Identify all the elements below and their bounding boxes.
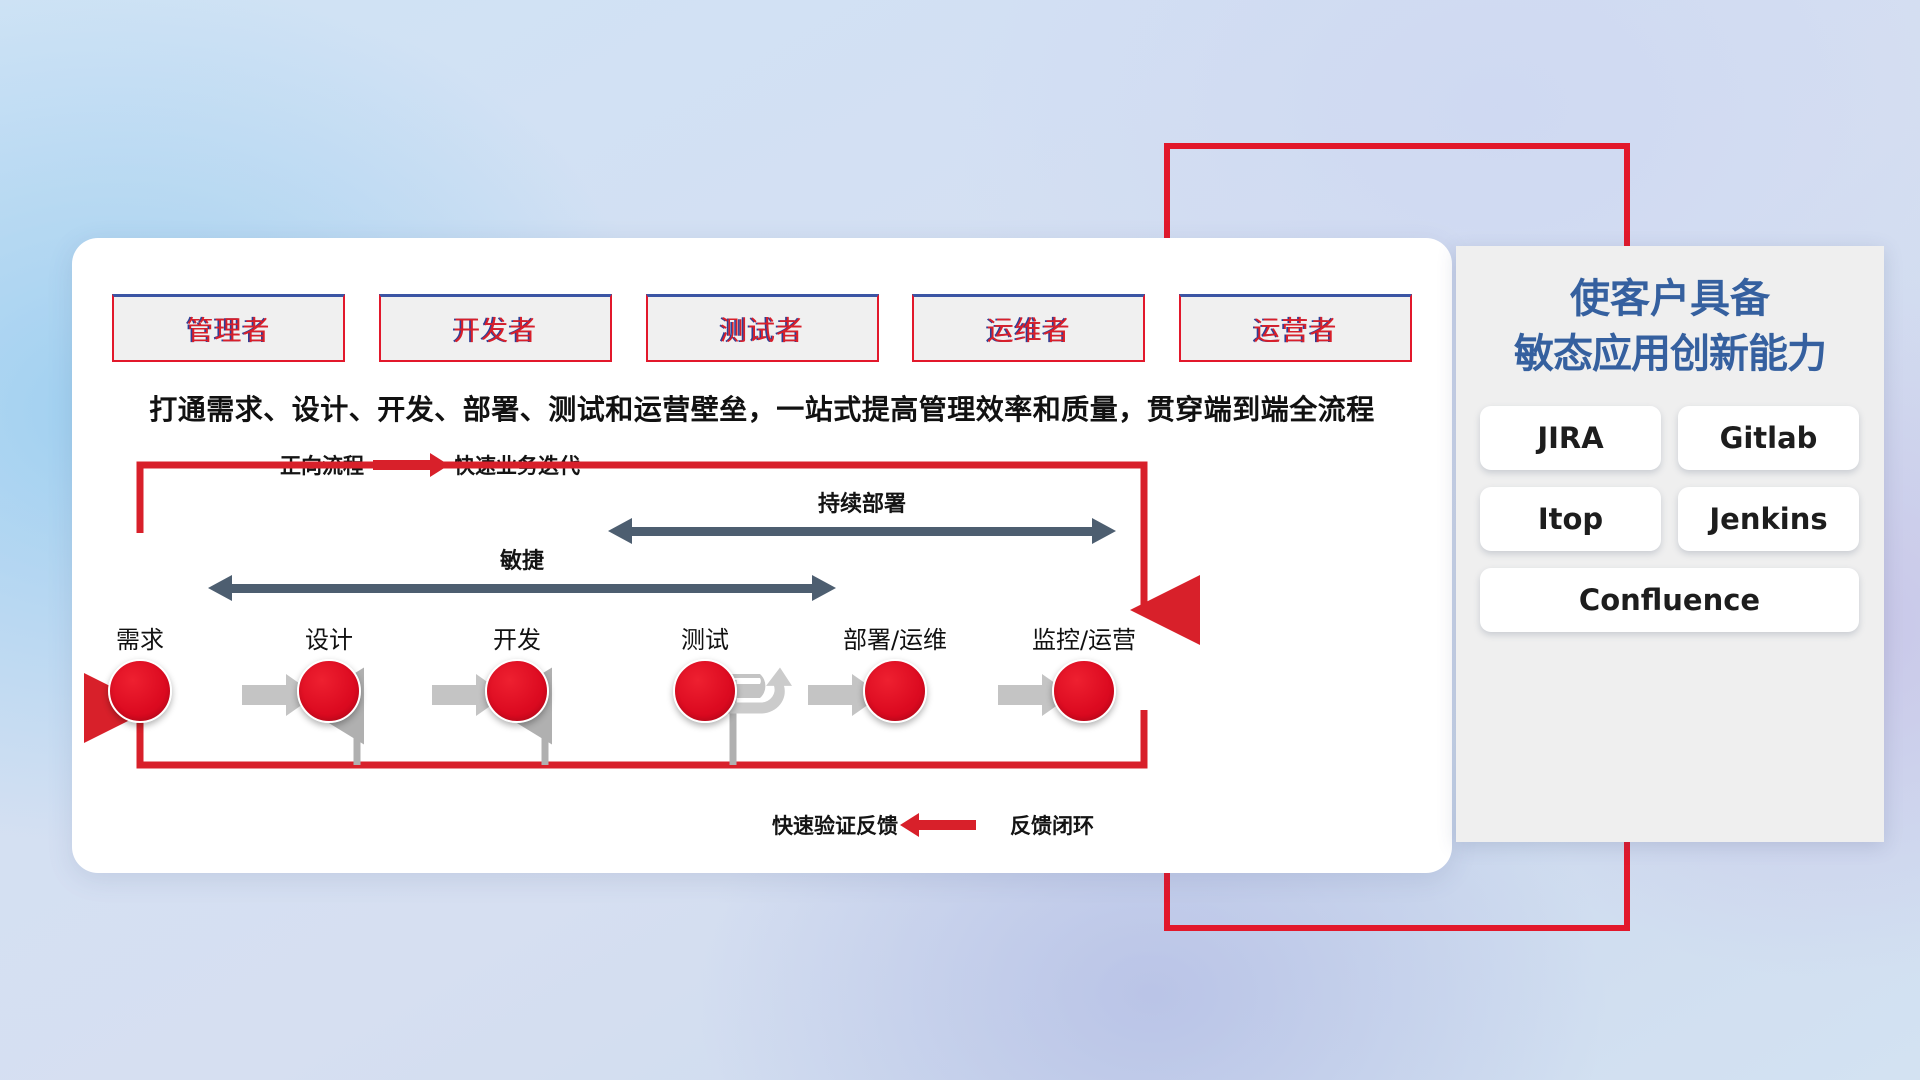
stage-label: 设计 <box>269 620 389 655</box>
stage-node-circle <box>1052 659 1116 723</box>
arrow-head-right <box>1092 518 1116 544</box>
role-chip-operations[interactable]: 运营者 <box>1179 294 1412 362</box>
pipeline-stage-development[interactable]: 开发 <box>457 620 577 723</box>
stage-label: 测试 <box>645 620 765 655</box>
arrow-shaft <box>230 584 814 593</box>
arrow-shaft <box>630 527 1094 536</box>
role-label: 管理者 <box>187 309 271 348</box>
legend-feedback-right-label: 反馈闭环 <box>1010 810 1094 840</box>
pipeline-stage-testing[interactable]: 测试 <box>645 620 765 723</box>
double-arrow-icon <box>608 524 1116 538</box>
role-chip-tester[interactable]: 测试者 <box>646 294 879 362</box>
tool-chip-itop[interactable]: Itop <box>1480 487 1661 551</box>
stage-node-circle <box>863 659 927 723</box>
stage-label: 需求 <box>80 620 200 655</box>
main-content-card: 管理者 开发者 测试者 运维者 运营者 打通需求、设计、开发、部署、测试和运营壁… <box>72 238 1452 873</box>
arrow-head-left <box>608 518 632 544</box>
stage-node-circle <box>297 659 361 723</box>
band-agile: 敏捷 <box>208 543 836 595</box>
tool-chip-confluence[interactable]: Confluence <box>1480 568 1859 632</box>
pipeline-stage-deploy-ops[interactable]: 部署/运维 <box>835 620 955 723</box>
panel-title-line-1: 使客户具备 <box>1480 272 1860 327</box>
role-label: 运维者 <box>987 309 1071 348</box>
arrow-right-red-icon <box>373 460 431 470</box>
panel-title-line-2: 敏态应用创新能力 <box>1480 327 1860 382</box>
role-label: 测试者 <box>720 309 804 348</box>
band-continuous-deployment: 持续部署 <box>608 486 1116 538</box>
band-label: 持续部署 <box>608 486 1116 518</box>
stage-label: 监控/运营 <box>1024 620 1144 655</box>
pipeline-stage-requirements[interactable]: 需求 <box>80 620 200 723</box>
stage-label: 部署/运维 <box>835 620 955 655</box>
value-proposition-panel: 使客户具备 敏态应用创新能力 JIRA Gitlab Itop Jenkins … <box>1456 246 1884 842</box>
legend-forward-right-label: 快速业务迭代 <box>454 450 580 480</box>
stage-node-circle <box>673 659 737 723</box>
stage-node-circle <box>108 659 172 723</box>
tool-chip-jira[interactable]: JIRA <box>1480 406 1661 470</box>
arrow-left-red-icon <box>918 820 976 830</box>
pipeline-row: 需求 设计 开发 <box>112 620 1412 770</box>
role-label: 开发者 <box>453 309 537 348</box>
pipeline-stage-monitor-operations[interactable]: 监控/运营 <box>1024 620 1144 723</box>
role-label: 运营者 <box>1254 309 1338 348</box>
legend-feedback-left-label: 快速验证反馈 <box>772 810 898 840</box>
stage-node-circle <box>485 659 549 723</box>
panel-title: 使客户具备 敏态应用创新能力 <box>1480 272 1860 382</box>
role-chip-manager[interactable]: 管理者 <box>112 294 345 362</box>
role-chip-row: 管理者 开发者 测试者 运维者 运营者 <box>112 294 1412 362</box>
double-arrow-icon <box>208 581 836 595</box>
role-chip-developer[interactable]: 开发者 <box>379 294 612 362</box>
legend-forward-left-label: 正向流程 <box>280 450 364 480</box>
band-label: 敏捷 <box>208 543 836 575</box>
pipeline-stage-design[interactable]: 设计 <box>269 620 389 723</box>
slide-canvas: 管理者 开发者 测试者 运维者 运营者 打通需求、设计、开发、部署、测试和运营壁… <box>0 0 1920 1080</box>
legend-feedback-loop: 快速验证反馈 反馈闭环 <box>772 810 1094 840</box>
tool-chip-jenkins[interactable]: Jenkins <box>1678 487 1859 551</box>
stage-label: 开发 <box>457 620 577 655</box>
role-chip-ops[interactable]: 运维者 <box>912 294 1145 362</box>
legend-forward-flow: 正向流程 快速业务迭代 <box>280 450 580 480</box>
tool-chip-gitlab[interactable]: Gitlab <box>1678 406 1859 470</box>
tagline-text: 打通需求、设计、开发、部署、测试和运营壁垒，一站式提高管理效率和质量，贯穿端到端… <box>72 388 1452 428</box>
arrow-head-right <box>812 575 836 601</box>
tool-chip-grid: JIRA Gitlab Itop Jenkins Confluence <box>1480 406 1860 632</box>
arrow-head-left <box>208 575 232 601</box>
